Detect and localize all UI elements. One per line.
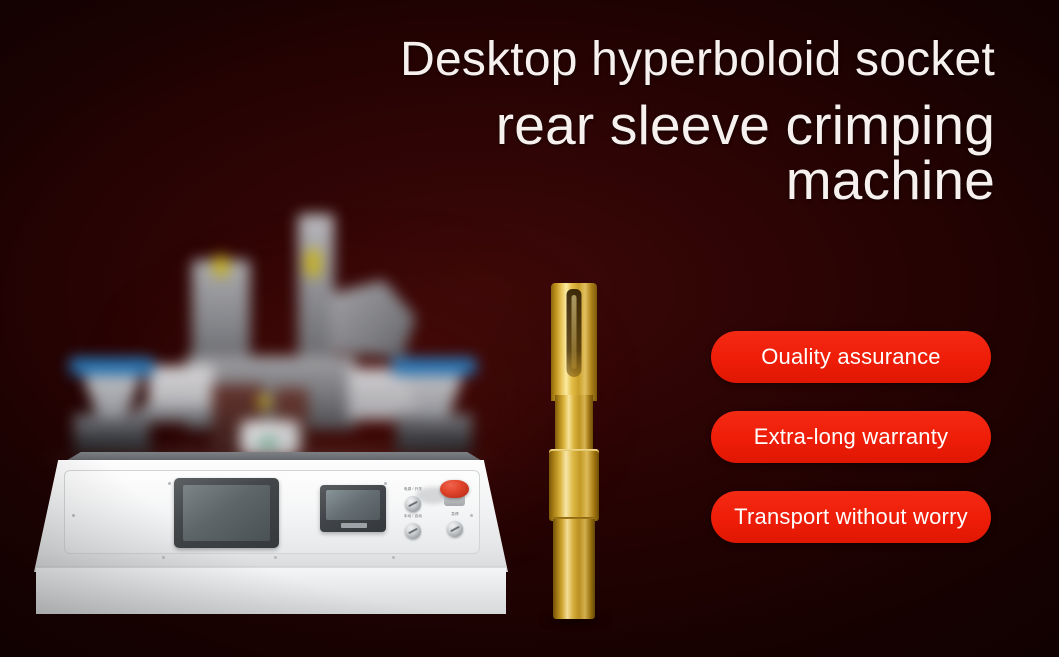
knob-2-label: 手动 / 自动 xyxy=(398,513,427,518)
product-banner: 电源 / 开关 手动 / 自动 急停 Desktop hyperboloid s… xyxy=(0,0,1059,657)
pin-neck xyxy=(555,395,593,453)
feature-pill-warranty[interactable]: Extra-long warranty xyxy=(711,411,991,463)
pin-slot-highlight xyxy=(572,295,577,369)
panel-screw xyxy=(72,514,75,517)
panel-screw xyxy=(384,482,387,485)
panel-screw xyxy=(168,482,171,485)
hmi-small-touchscreen[interactable] xyxy=(320,485,386,532)
emergency-stop-button[interactable] xyxy=(440,480,469,507)
mode-knob[interactable] xyxy=(405,523,421,539)
panel-screw xyxy=(392,556,395,559)
gold-socket-pin xyxy=(549,283,599,621)
headline-line-2: rear sleeve crimping machine xyxy=(295,98,995,208)
headline: Desktop hyperboloid socket rear sleeve c… xyxy=(295,36,995,208)
estop-cap[interactable] xyxy=(440,480,469,498)
pin-hex-collar xyxy=(549,451,599,521)
reset-knob[interactable] xyxy=(447,521,463,537)
feature-pill-quality[interactable]: Ouality assurance xyxy=(711,331,991,383)
hmi-large-touchscreen[interactable] xyxy=(174,478,279,548)
hmi-large-screen-surface[interactable] xyxy=(183,485,270,541)
feature-pill-list: Ouality assurance Extra-long warranty Tr… xyxy=(711,331,991,543)
hmi-small-brand-mark xyxy=(341,523,367,528)
pin-rear-sleeve-barrel xyxy=(553,519,595,619)
hmi-small-screen-surface[interactable] xyxy=(326,490,380,520)
panel-screw xyxy=(470,514,473,517)
panel-screw xyxy=(274,556,277,559)
machine-base xyxy=(36,568,506,614)
feature-pill-transport[interactable]: Transport without worry xyxy=(711,491,991,543)
headline-line-1: Desktop hyperboloid socket xyxy=(295,36,995,84)
panel-screw xyxy=(162,556,165,559)
estop-label: 急停 xyxy=(440,511,469,516)
